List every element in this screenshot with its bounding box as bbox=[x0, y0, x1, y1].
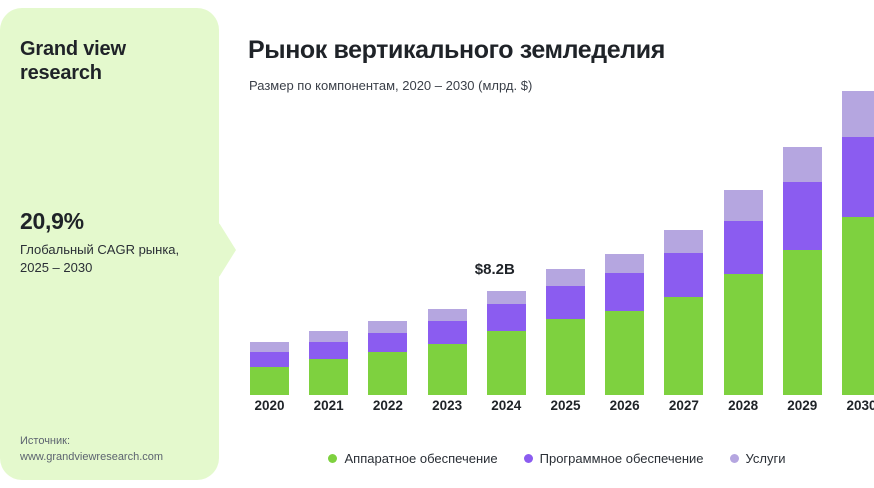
bar-segment-2023-1[interactable] bbox=[428, 321, 467, 344]
bar-segment-2028-1[interactable] bbox=[724, 221, 763, 274]
bar-2024[interactable] bbox=[487, 291, 526, 395]
bar-segment-2026-1[interactable] bbox=[605, 273, 644, 311]
bar-segment-2024-1[interactable] bbox=[487, 304, 526, 332]
bar-segment-2030-2[interactable] bbox=[842, 91, 874, 137]
bar-segment-2025-1[interactable] bbox=[546, 286, 585, 319]
source-block: Источник: www.grandviewresearch.com bbox=[20, 434, 210, 466]
legend-dot-icon-0 bbox=[328, 454, 337, 463]
bar-2029[interactable] bbox=[783, 147, 822, 395]
bar-segment-2021-0[interactable] bbox=[309, 359, 348, 395]
legend-label-1: Программное обеспечение bbox=[540, 451, 704, 466]
legend-item-2[interactable]: Услуги bbox=[730, 451, 786, 466]
source-label: Источник: bbox=[20, 434, 210, 450]
bar-2020[interactable] bbox=[250, 342, 289, 395]
bar-2030[interactable] bbox=[842, 91, 874, 395]
legend-dot-icon-2 bbox=[730, 454, 739, 463]
infographic-root: Grand view research 20,9% Глобальный CAG… bbox=[0, 0, 874, 488]
bar-segment-2025-0[interactable] bbox=[546, 319, 585, 395]
legend-label-2: Услуги bbox=[746, 451, 786, 466]
bar-2028[interactable] bbox=[724, 190, 763, 395]
bar-segment-2029-0[interactable] bbox=[783, 250, 822, 395]
bar-segment-2022-2[interactable] bbox=[368, 321, 407, 332]
x-tick-2022: 2022 bbox=[368, 398, 407, 413]
legend-label-0: Аппаратное обеспечение bbox=[344, 451, 497, 466]
bar-segment-2027-2[interactable] bbox=[664, 230, 703, 253]
x-tick-2028: 2028 bbox=[724, 398, 763, 413]
x-tick-2026: 2026 bbox=[605, 398, 644, 413]
x-tick-2030: 2030 bbox=[842, 398, 874, 413]
bar-segment-2030-0[interactable] bbox=[842, 217, 874, 395]
bar-segment-2020-1[interactable] bbox=[250, 352, 289, 367]
bar-2025[interactable] bbox=[546, 269, 585, 395]
cagr-value: 20,9% bbox=[20, 208, 210, 236]
x-tick-2021: 2021 bbox=[309, 398, 348, 413]
bar-segment-2024-0[interactable] bbox=[487, 331, 526, 395]
legend-item-0[interactable]: Аппаратное обеспечение bbox=[328, 451, 497, 466]
x-tick-2023: 2023 bbox=[428, 398, 467, 413]
bar-segment-2026-2[interactable] bbox=[605, 254, 644, 273]
legend-item-1[interactable]: Программное обеспечение bbox=[524, 451, 704, 466]
bar-segment-2028-0[interactable] bbox=[724, 274, 763, 395]
x-axis: 2020202120222023202420252026202720282029… bbox=[240, 398, 874, 422]
bar-segment-2027-0[interactable] bbox=[664, 297, 703, 395]
brand-panel-pointer bbox=[206, 222, 236, 278]
bar-segment-2028-2[interactable] bbox=[724, 190, 763, 221]
bar-segment-2020-0[interactable] bbox=[250, 367, 289, 395]
bar-segment-2025-2[interactable] bbox=[546, 269, 585, 286]
chart-legend: Аппаратное обеспечениеПрограммное обеспе… bbox=[240, 445, 874, 471]
bar-segment-2026-0[interactable] bbox=[605, 311, 644, 395]
x-tick-2024: 2024 bbox=[487, 398, 526, 413]
value-callout-2024: $8.2B bbox=[475, 261, 515, 278]
x-tick-2025: 2025 bbox=[546, 398, 585, 413]
bar-2021[interactable] bbox=[309, 331, 348, 395]
bar-segment-2023-0[interactable] bbox=[428, 344, 467, 395]
cagr-block: 20,9% Глобальный CAGR рынка, 2025 – 2030 bbox=[20, 208, 210, 278]
chart-panel: Рынок вертикального земледелия Размер по… bbox=[240, 0, 874, 488]
bar-segment-2027-1[interactable] bbox=[664, 253, 703, 297]
x-tick-2029: 2029 bbox=[783, 398, 822, 413]
bar-segment-2021-2[interactable] bbox=[309, 331, 348, 341]
bar-segment-2029-1[interactable] bbox=[783, 182, 822, 251]
bar-segment-2023-2[interactable] bbox=[428, 309, 467, 322]
bar-segment-2029-2[interactable] bbox=[783, 147, 822, 181]
bar-segment-2024-2[interactable] bbox=[487, 291, 526, 304]
bar-2022[interactable] bbox=[368, 321, 407, 395]
bar-segment-2030-1[interactable] bbox=[842, 137, 874, 217]
x-tick-2027: 2027 bbox=[664, 398, 703, 413]
legend-dot-icon-1 bbox=[524, 454, 533, 463]
bar-segment-2022-0[interactable] bbox=[368, 352, 407, 395]
bar-segment-2020-2[interactable] bbox=[250, 342, 289, 352]
stacked-bar-plot: $8.2B bbox=[240, 90, 874, 395]
source-url[interactable]: www.grandviewresearch.com bbox=[20, 450, 210, 466]
bar-segment-2022-1[interactable] bbox=[368, 333, 407, 352]
x-tick-2020: 2020 bbox=[250, 398, 289, 413]
bar-segment-2021-1[interactable] bbox=[309, 342, 348, 360]
bar-2026[interactable] bbox=[605, 254, 644, 395]
cagr-description: Глобальный CAGR рынка, 2025 – 2030 bbox=[20, 241, 210, 278]
bar-2027[interactable] bbox=[664, 230, 703, 395]
bar-2023[interactable] bbox=[428, 309, 467, 395]
brand-title: Grand view research bbox=[20, 37, 200, 86]
chart-title: Рынок вертикального земледелия bbox=[248, 36, 665, 65]
